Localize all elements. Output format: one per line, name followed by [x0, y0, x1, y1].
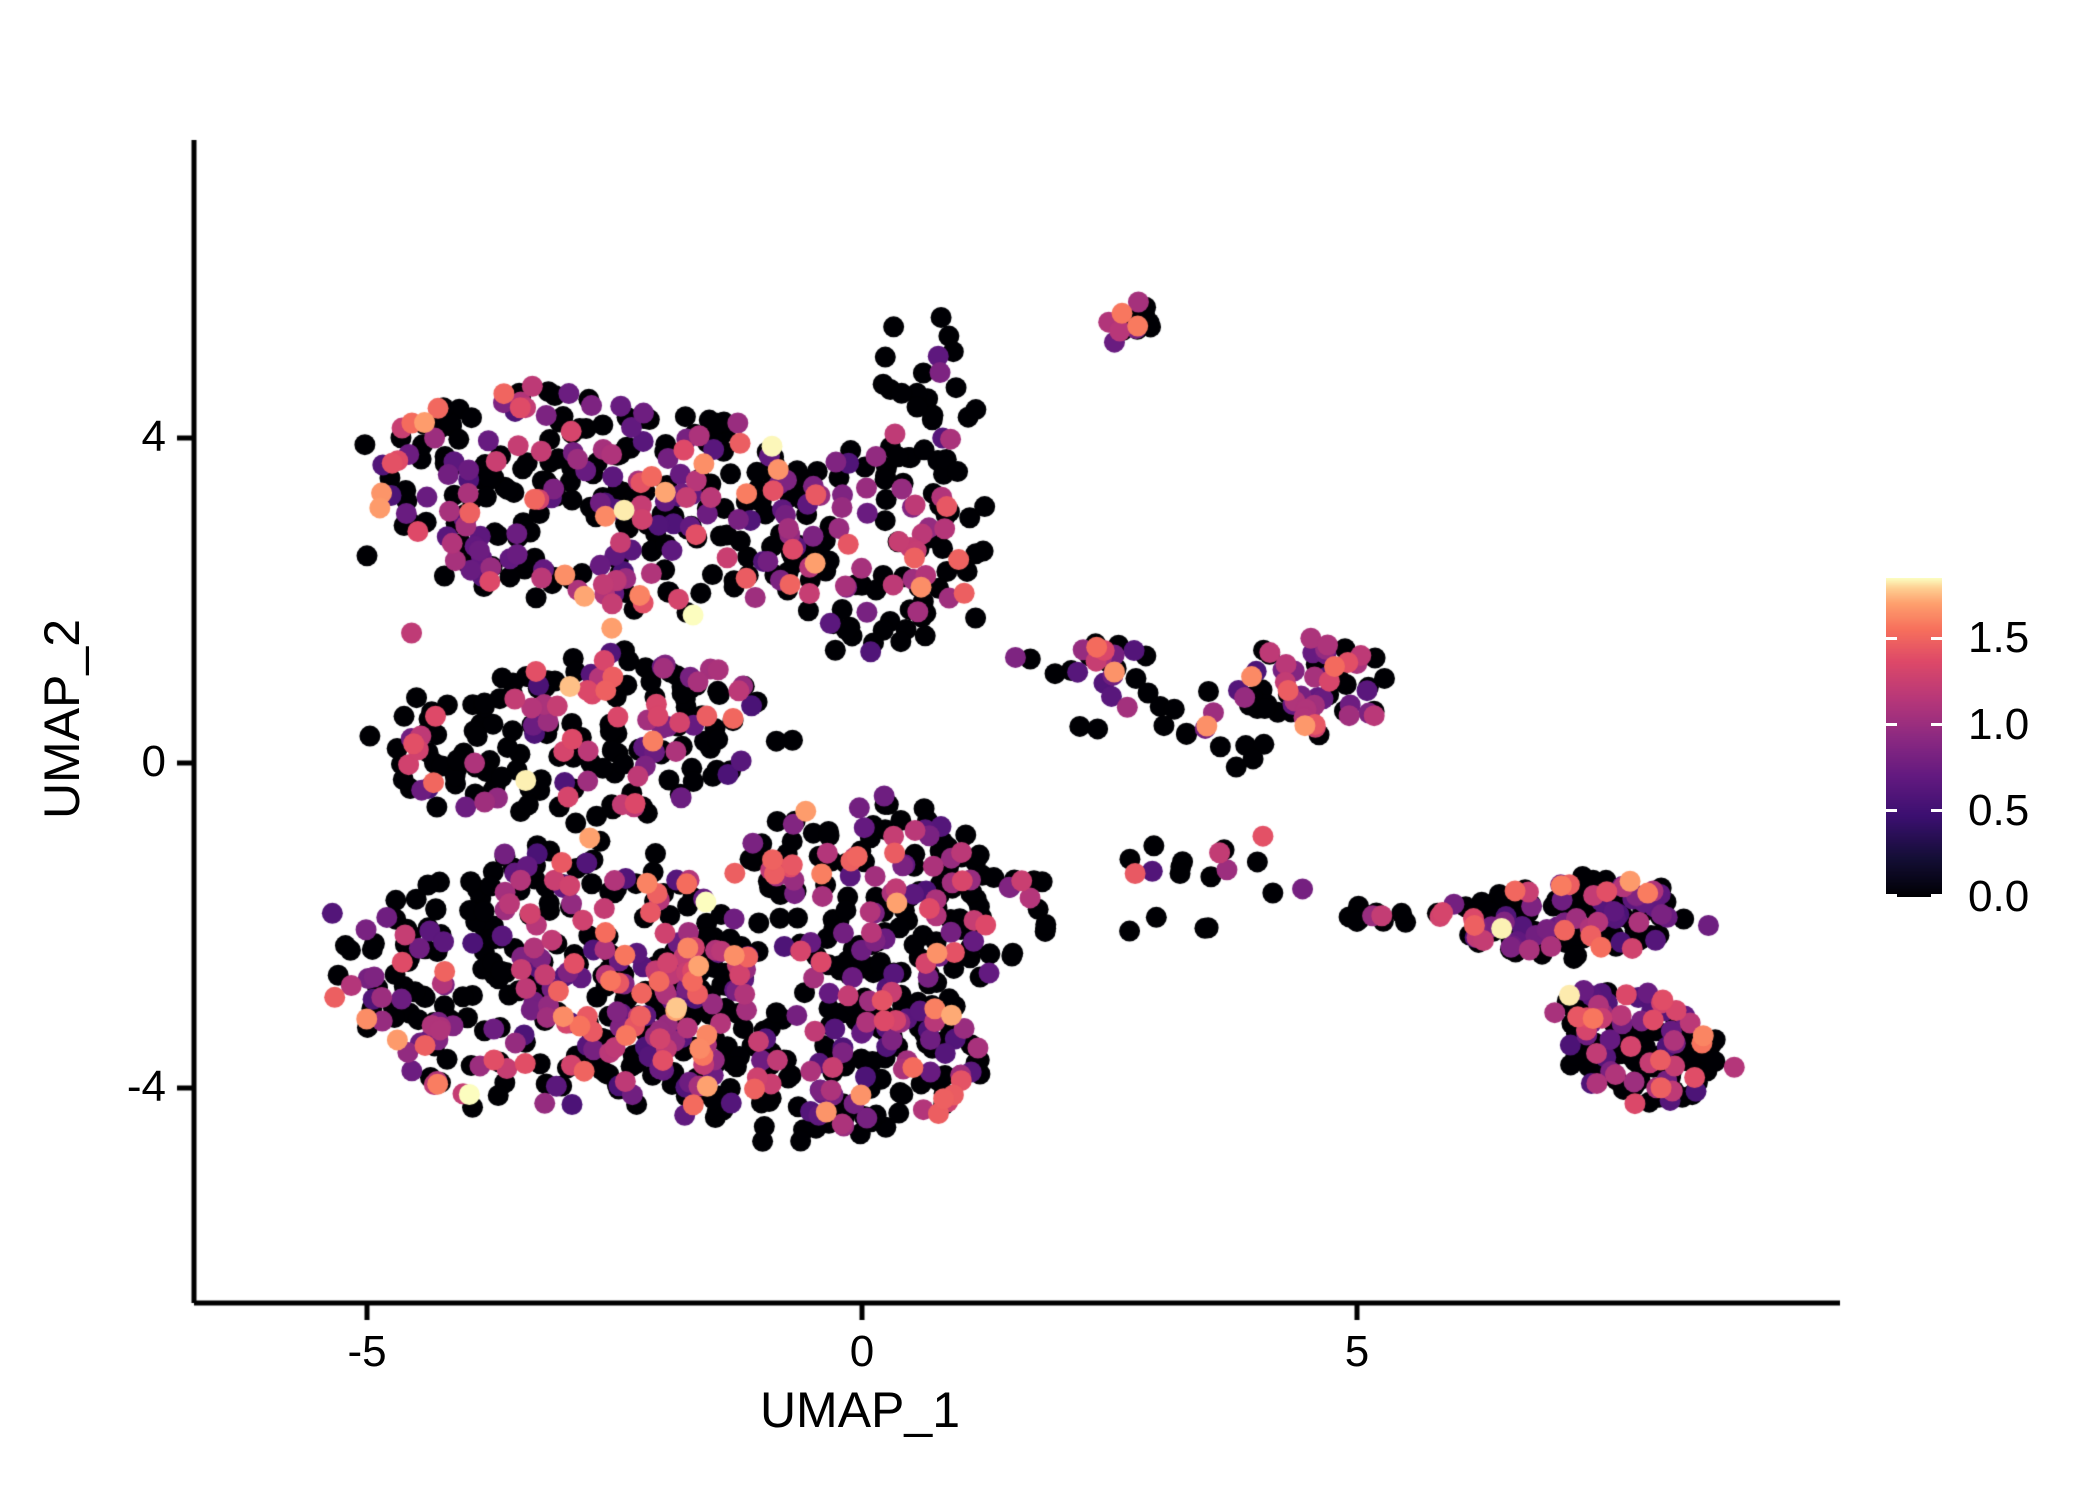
- colorbar-label-0-0: 0.0: [1968, 872, 2029, 922]
- umap-feature-plot-figure: HADH UMAP_2 UMAP_1 4 0 -4 -5 0 5 0.00.51…: [0, 0, 2100, 1500]
- scatter-plot-canvas: [0, 0, 2100, 1500]
- x-tick-label-minus5: -5: [297, 1327, 437, 1377]
- x-tick-label-0: 0: [792, 1327, 932, 1377]
- y-tick-label-0: 0: [46, 737, 166, 787]
- y-axis-label: UMAP_2: [33, 569, 91, 869]
- colorbar-legend: [1886, 578, 1942, 897]
- colorbar-label-1-5: 1.5: [1968, 613, 2029, 663]
- colorbar-tick-0-0: [1886, 894, 1897, 897]
- colorbar-label-1-0: 1.0: [1968, 700, 2029, 750]
- y-tick-label-minus4: -4: [46, 1062, 166, 1112]
- colorbar-label-0-5: 0.5: [1968, 786, 2029, 836]
- colorbar-tick-1-5: [1931, 637, 1942, 640]
- colorbar-tick-0-0: [1931, 894, 1942, 897]
- colorbar-tick-0-5: [1886, 809, 1897, 812]
- colorbar-gradient: [1886, 578, 1942, 897]
- colorbar-tick-1-0: [1931, 723, 1942, 726]
- y-tick-label-4: 4: [46, 412, 166, 462]
- colorbar-tick-0-5: [1931, 809, 1942, 812]
- x-tick-label-5: 5: [1287, 1327, 1427, 1377]
- colorbar-tick-1-0: [1886, 723, 1897, 726]
- colorbar-tick-1-5: [1886, 637, 1897, 640]
- x-axis-label: UMAP_1: [560, 1381, 1160, 1439]
